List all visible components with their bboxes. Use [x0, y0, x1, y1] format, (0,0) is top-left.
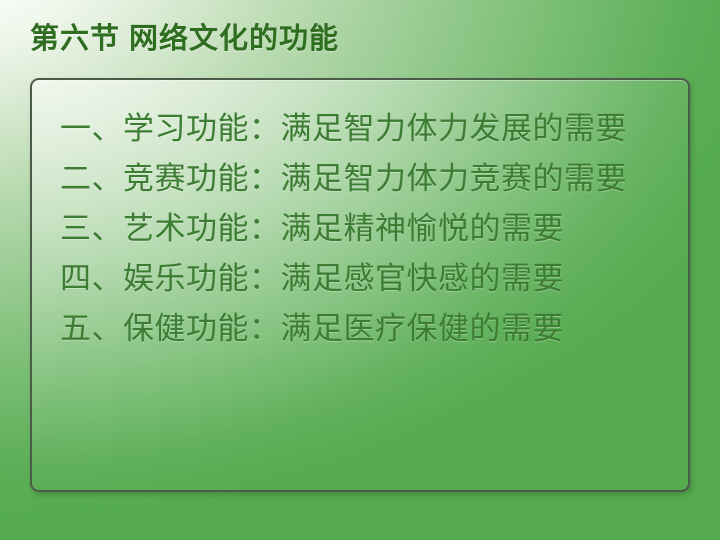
list-item: 五、保健功能：满足医疗保健的需要 [60, 304, 678, 354]
list-item: 三、艺术功能：满足精神愉悦的需要 [60, 204, 678, 254]
slide-title: 第六节 网络文化的功能 [30, 17, 670, 61]
list-item: 二、竞赛功能：满足智力体力竞赛的需要 [60, 154, 678, 204]
list-item: 四、娱乐功能：满足感官快感的需要 [60, 254, 678, 304]
content-box: 一、学习功能：满足智力体力发展的需要 二、竞赛功能：满足智力体力竞赛的需要 三、… [30, 78, 690, 492]
list-item: 一、学习功能：满足智力体力发展的需要 [60, 104, 678, 154]
bullet-list: 一、学习功能：满足智力体力发展的需要 二、竞赛功能：满足智力体力竞赛的需要 三、… [60, 104, 678, 354]
presentation-slide: 第六节 网络文化的功能 一、学习功能：满足智力体力发展的需要 二、竞赛功能：满足… [0, 0, 720, 540]
